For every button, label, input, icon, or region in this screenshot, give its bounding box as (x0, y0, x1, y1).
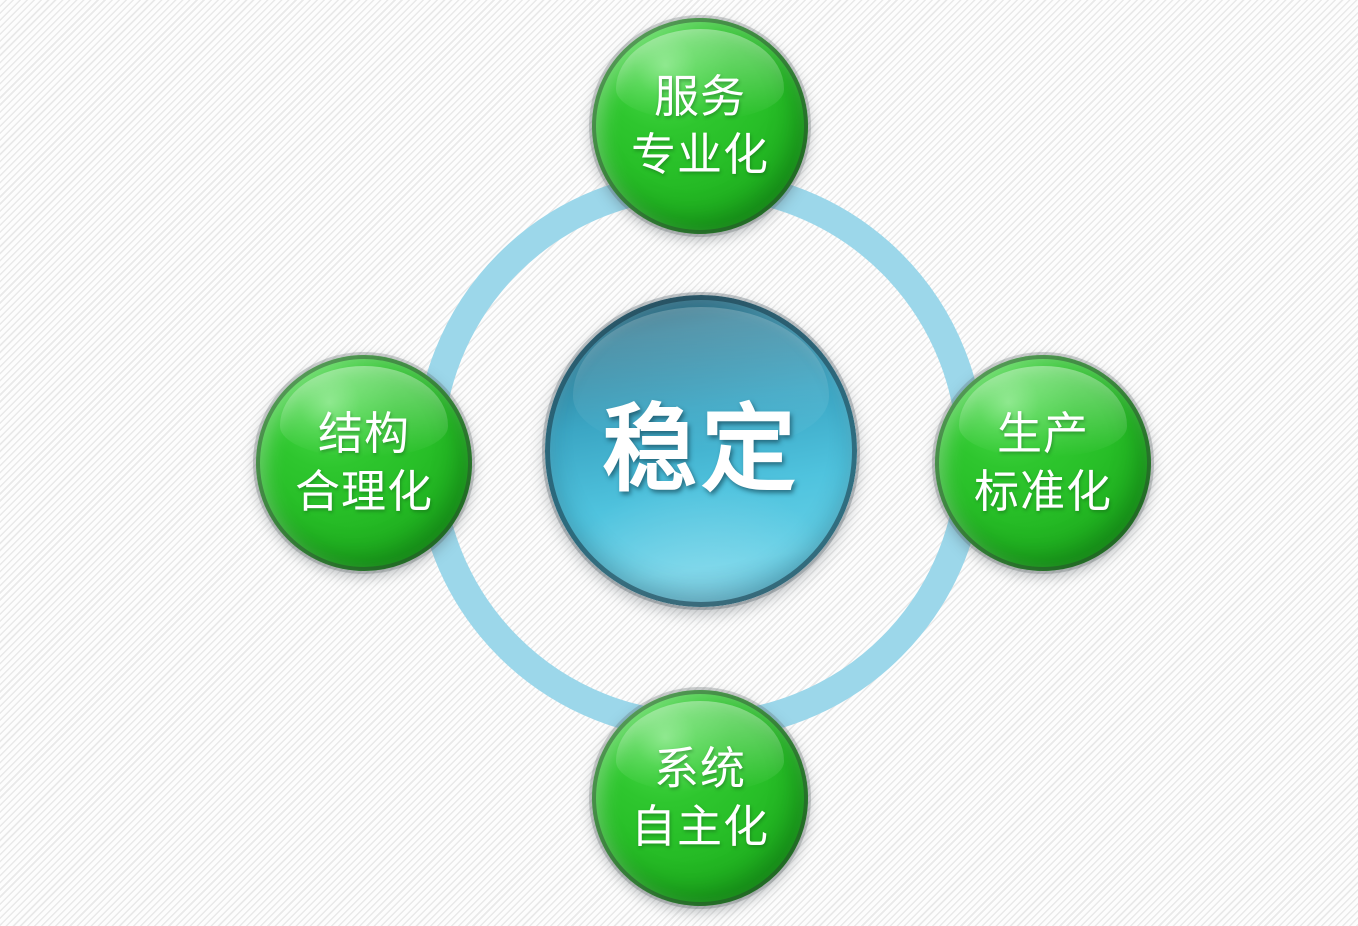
node-left-label: 结构 合理化 (295, 405, 433, 520)
node-top-label: 服务 专业化 (631, 68, 769, 183)
node-left-structure[interactable]: 结构 合理化 (256, 355, 472, 571)
node-top-service[interactable]: 服务 专业化 (592, 18, 808, 234)
node-right-label: 生产 标准化 (974, 405, 1112, 520)
diagram-canvas: 稳定 服务 专业化 生产 标准化 系统 自主化 结构 合理化 (0, 0, 1358, 926)
center-hub-label: 稳定 (602, 401, 800, 501)
node-right-production[interactable]: 生产 标准化 (935, 355, 1151, 571)
node-bottom-system[interactable]: 系统 自主化 (592, 690, 808, 906)
center-hub-circle[interactable]: 稳定 (545, 295, 857, 607)
node-bottom-label: 系统 自主化 (631, 740, 769, 855)
